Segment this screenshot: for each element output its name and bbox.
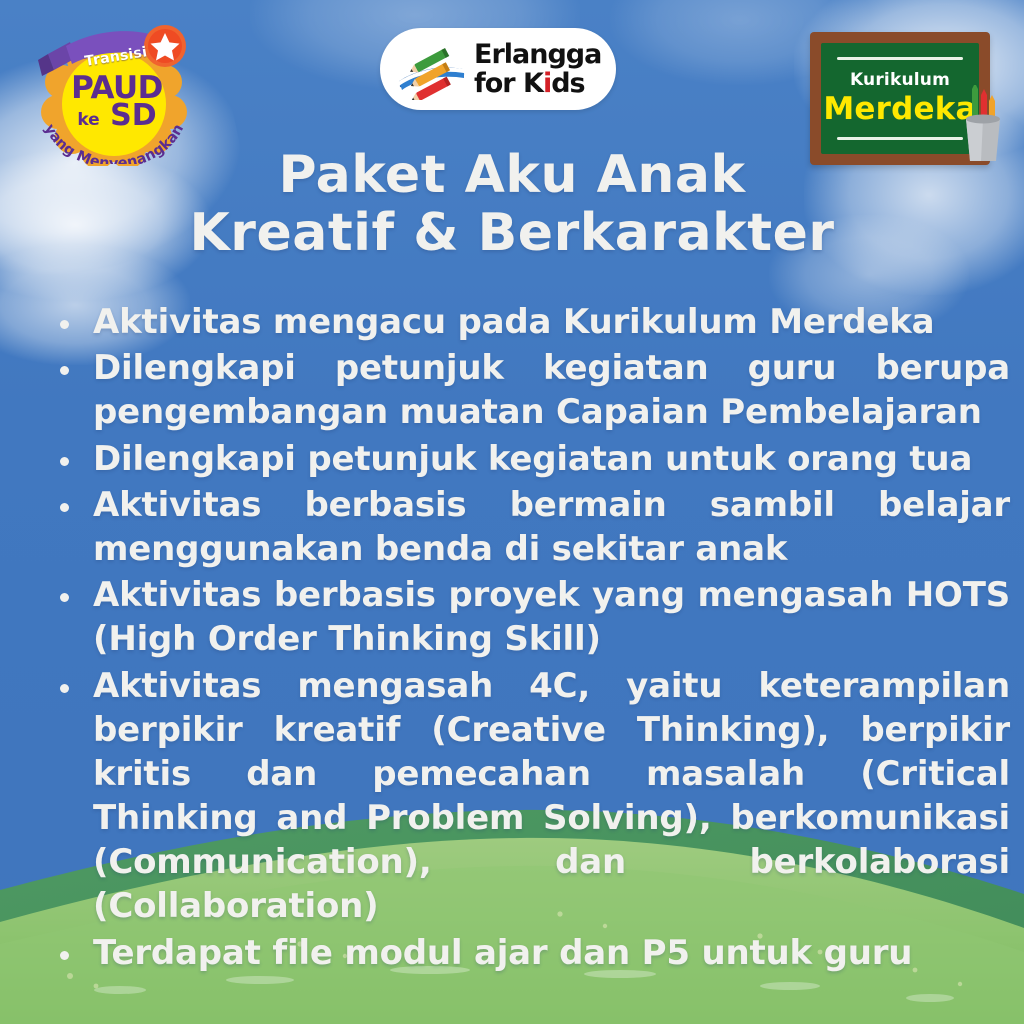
erlangga-for-kids-logo: Erlangga for Kids bbox=[380, 28, 616, 110]
list-item: Aktivitas berbasis bermain sambil belaja… bbox=[48, 483, 1010, 571]
chalk-rule-top bbox=[837, 57, 963, 60]
feature-list: Aktivitas mengacu pada Kurikulum Merdeka… bbox=[48, 300, 1010, 977]
list-item: Dilengkapi petunjuk kegiatan guru berupa… bbox=[48, 346, 1010, 434]
list-item: Dilengkapi petunjuk kegiatan untuk orang… bbox=[48, 437, 1010, 481]
list-item: Terdapat file modul ajar dan P5 untuk gu… bbox=[48, 931, 1010, 975]
erlangga-line1: Erlangga bbox=[474, 41, 601, 68]
erlangga-line2: for Kids bbox=[474, 70, 601, 97]
paud-ribbon-label: Transisi bbox=[69, 42, 162, 72]
title-line1: Paket Aku Anak bbox=[0, 146, 1024, 204]
erlangga-ds: ds bbox=[551, 68, 584, 99]
list-item: Aktivitas berbasis proyek yang mengasah … bbox=[48, 573, 1010, 661]
merdeka-line1: Kurikulum bbox=[850, 70, 950, 90]
list-item: Aktivitas mengacu pada Kurikulum Merdeka bbox=[48, 300, 1010, 344]
poster-title: Paket Aku Anak Kreatif & Berkarakter bbox=[0, 146, 1024, 262]
erlangga-for-k: for K bbox=[474, 68, 543, 99]
paud-transisi-badge: Transisi PAUD ke SD yang Menyenangkan bbox=[24, 16, 204, 166]
pencils-and-book-icon bbox=[394, 38, 470, 100]
promo-poster: Transisi PAUD ke SD yang Menyenangkan bbox=[0, 0, 1024, 1024]
list-item: Aktivitas mengasah 4C, yaitu keterampila… bbox=[48, 664, 1010, 929]
erlangga-wordmark: Erlangga for Kids bbox=[474, 41, 601, 97]
erlangga-i: i bbox=[543, 68, 551, 99]
title-line2: Kreatif & Berkarakter bbox=[0, 204, 1024, 262]
chalk-rule-bottom bbox=[837, 137, 963, 140]
